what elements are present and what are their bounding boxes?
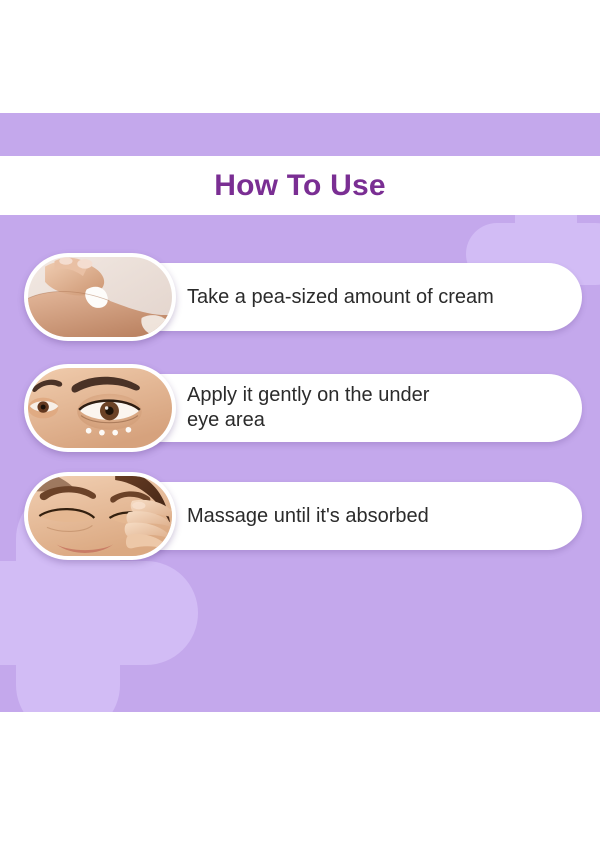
title-strip: How To Use [0, 156, 600, 215]
steps-stage: Take a pea-sized amount of cream [0, 215, 600, 712]
step-thumbnail [24, 472, 176, 560]
step-item: Take a pea-sized amount of cream [24, 263, 582, 331]
step-thumbnail [24, 364, 176, 452]
page-title: How To Use [214, 171, 385, 201]
hand-applying-cream-photo [28, 257, 172, 337]
how-to-use-infographic: How To Use Take a pea-sized amount of cr… [0, 0, 600, 866]
top-purple-band [0, 113, 600, 156]
step-thumbnail [24, 253, 176, 341]
woman-massaging-eye-photo [28, 476, 172, 556]
under-eye-closeup-photo [28, 368, 172, 448]
step-item: Apply it gently on the under eye area [24, 374, 582, 442]
bottom-white-band [0, 712, 600, 866]
step-item: Massage until it's absorbed [24, 482, 582, 550]
steps-list: Take a pea-sized amount of cream [0, 215, 600, 712]
